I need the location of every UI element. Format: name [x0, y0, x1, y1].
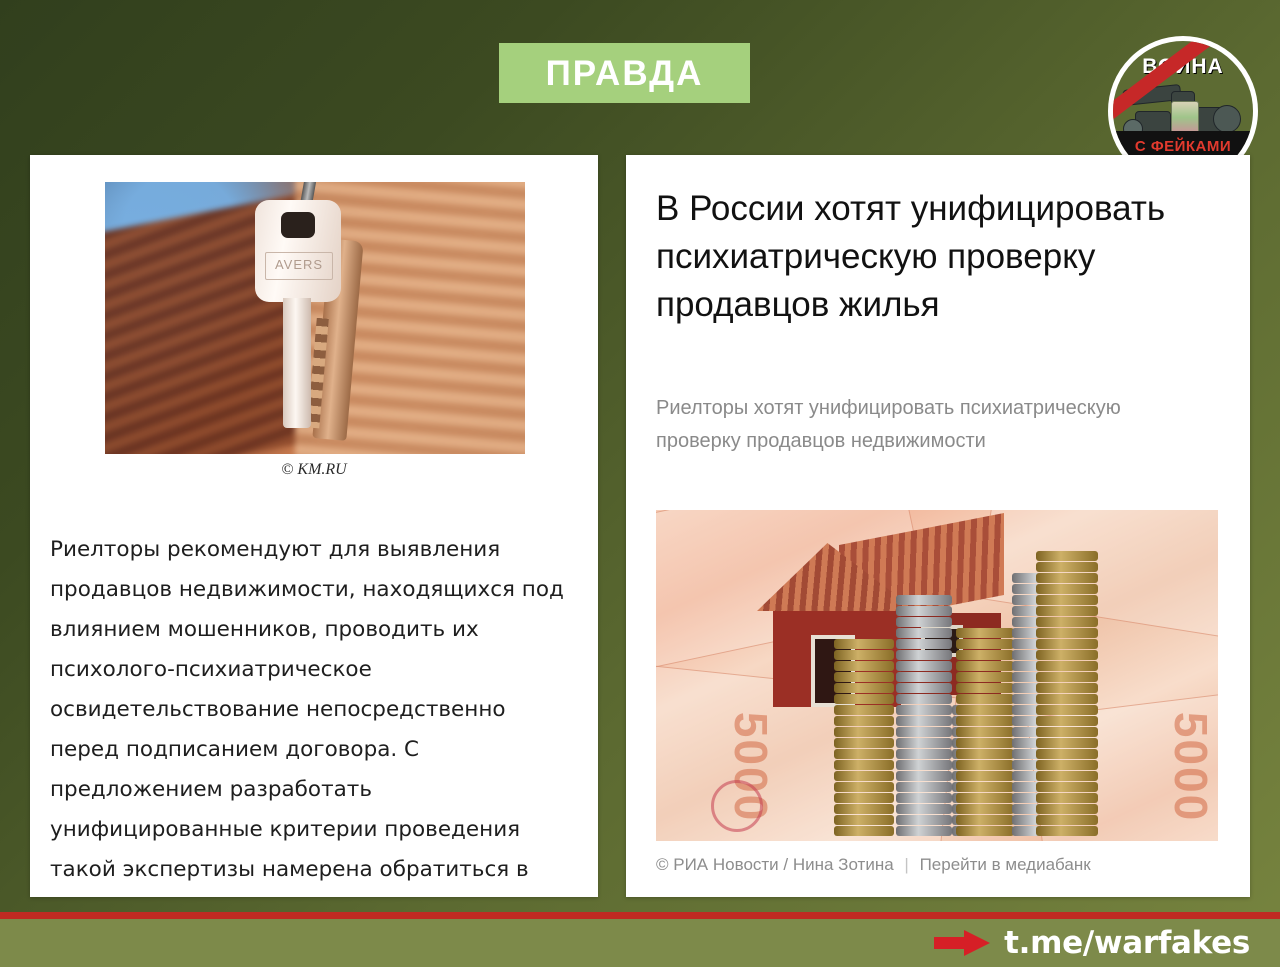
photo-caption-left: © KM.RU: [30, 461, 598, 479]
verdict-banner-label: ПРАВДА: [546, 56, 704, 91]
house-and-money-photo: 5000 5000: [656, 510, 1218, 841]
slide-root: ПРАВДА ВОЙНА С ФЕЙКАМИ: [0, 0, 1280, 967]
media-bank-link[interactable]: Перейти в медиабанк: [920, 855, 1091, 874]
footer-rule: [0, 912, 1280, 919]
article-headline: В России хотят унифицировать психиатриче…: [656, 185, 1222, 329]
verdict-banner: ПРАВДА: [499, 43, 750, 103]
coin-stack: [956, 628, 1014, 837]
keys-photo: AVERS: [105, 182, 525, 454]
main-key: AVERS: [255, 200, 341, 430]
article-card-right: В России хотят унифицировать психиатриче…: [626, 155, 1250, 897]
logo-bottom-label: С ФЕЙКАМИ: [1113, 138, 1253, 155]
coin-stack: [834, 639, 894, 837]
photo-credit-right: © РИА Новости / Нина Зотина | Перейти в …: [656, 855, 1216, 875]
article-body-left: Риелторы рекомендуют для выявления прода…: [50, 530, 570, 897]
key-brand-label: AVERS: [265, 252, 333, 280]
telegram-url-label: t.me/warfakes: [1004, 925, 1250, 961]
coin-stack: [896, 595, 952, 837]
arrow-right-icon: [934, 930, 990, 956]
article-card-left: AVERS © KM.RU Риелторы рекомендуют для в…: [30, 155, 598, 897]
telegram-link[interactable]: t.me/warfakes: [934, 925, 1250, 961]
article-subheading: Риелторы хотят унифицировать психиатриче…: [656, 392, 1176, 458]
coin-stack: [1036, 551, 1098, 837]
photo-credit-author: © РИА Новости / Нина Зотина: [656, 855, 894, 874]
photo-credit-separator: |: [898, 855, 914, 874]
